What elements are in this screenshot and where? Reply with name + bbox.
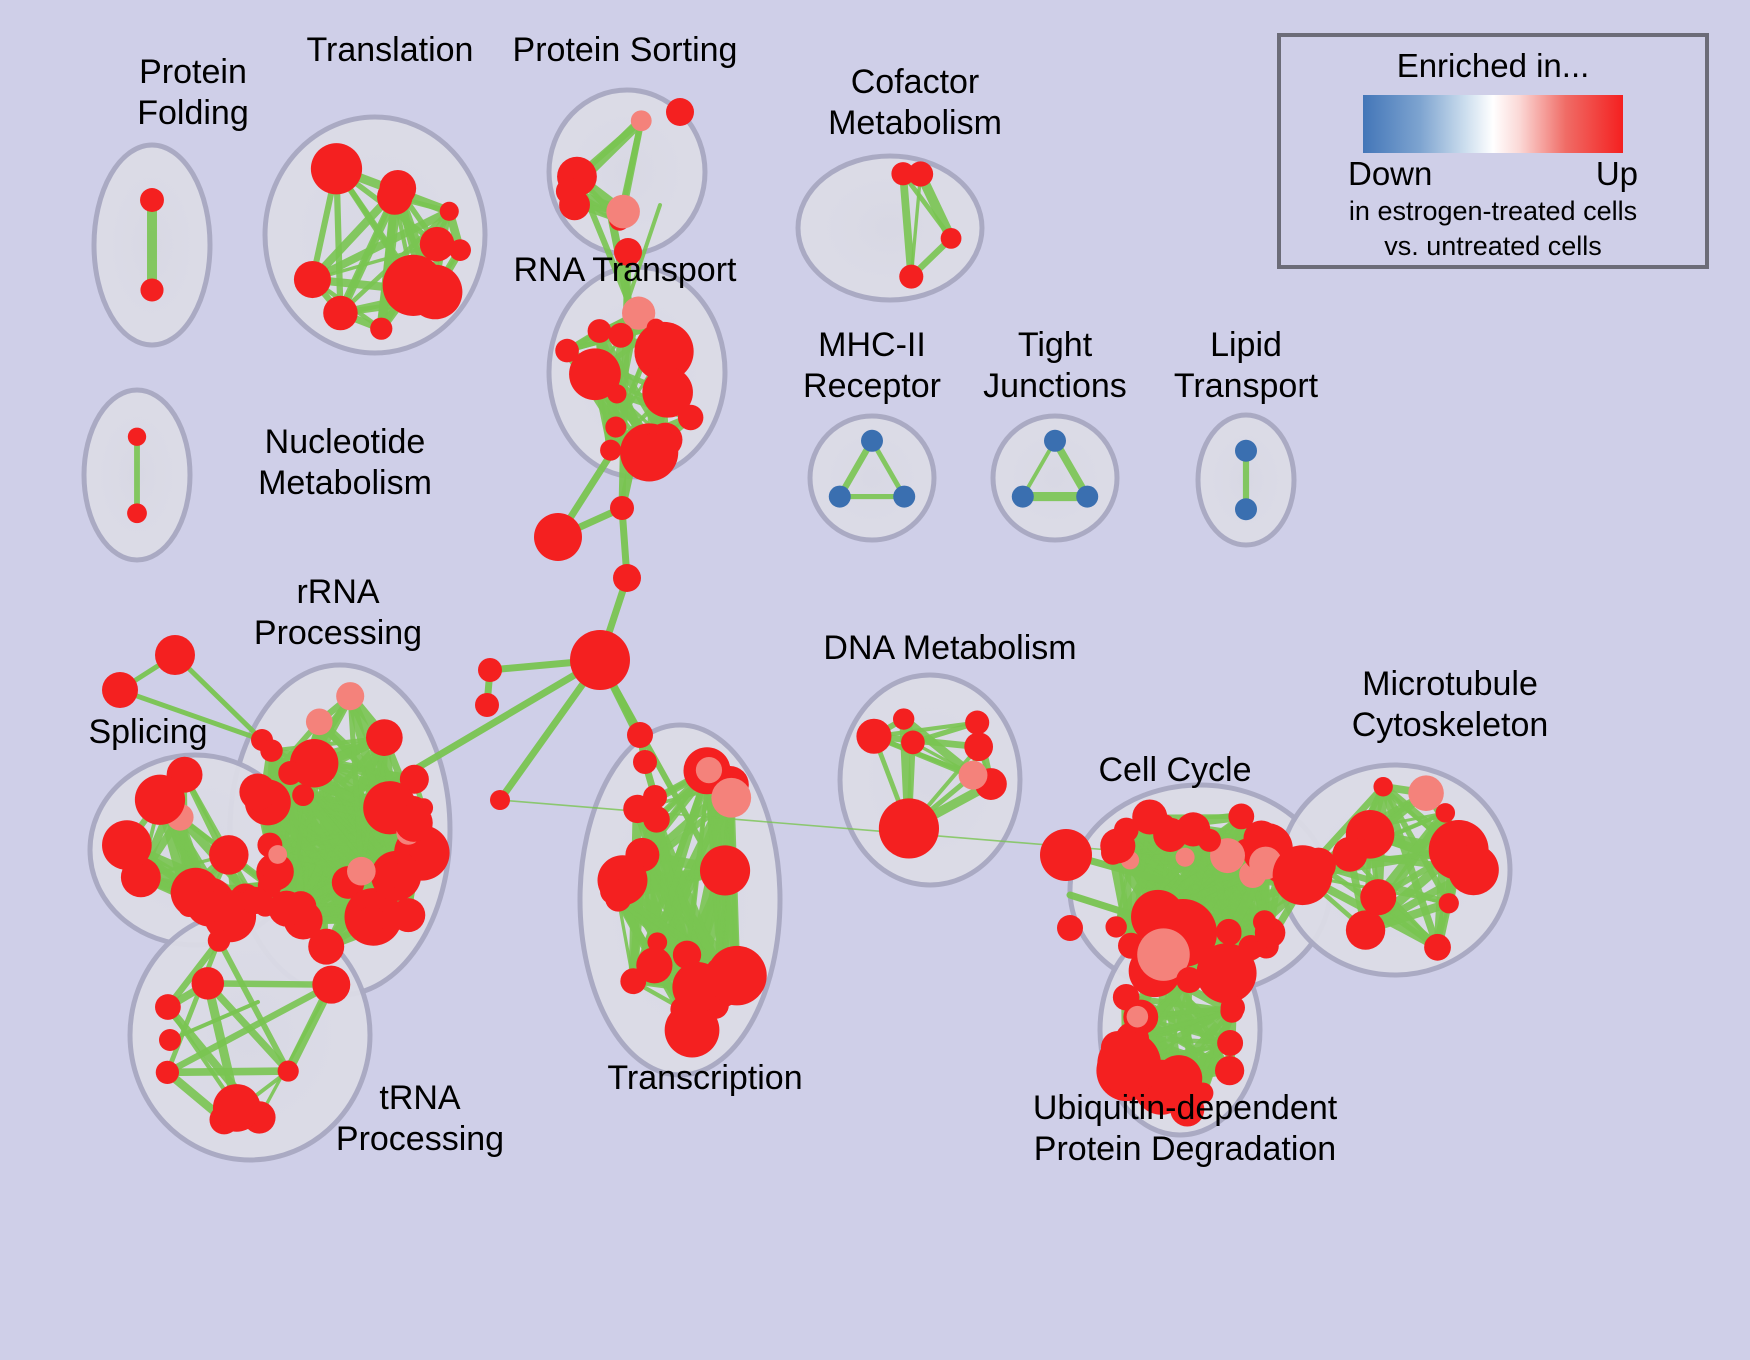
node — [613, 564, 641, 592]
node — [1176, 967, 1202, 993]
node — [636, 947, 672, 983]
node — [387, 863, 413, 889]
node — [614, 238, 642, 266]
node — [395, 804, 433, 842]
node — [700, 845, 750, 895]
node — [1176, 848, 1195, 867]
node — [964, 732, 993, 761]
legend-color-gradient-bar — [1363, 95, 1623, 153]
node — [707, 946, 767, 1006]
node — [140, 188, 164, 212]
node — [600, 440, 621, 461]
node — [1424, 934, 1451, 961]
legend-panel: Enriched in... Down Up in estrogen-treat… — [1277, 33, 1709, 269]
node — [901, 731, 925, 755]
node — [1105, 916, 1126, 937]
node — [1301, 848, 1336, 883]
node — [610, 496, 634, 520]
node — [666, 98, 694, 126]
node — [391, 898, 425, 932]
legend-down-label: Down — [1348, 155, 1432, 193]
node — [159, 1029, 181, 1051]
node — [631, 110, 652, 131]
node — [1192, 1082, 1213, 1103]
node — [1228, 803, 1254, 829]
node — [639, 433, 668, 462]
node — [606, 195, 640, 229]
node — [336, 682, 364, 710]
node — [1097, 1032, 1161, 1096]
node — [370, 318, 392, 340]
node — [1218, 922, 1241, 945]
node — [588, 319, 612, 343]
node — [1253, 910, 1276, 933]
node — [347, 857, 376, 886]
node — [556, 178, 583, 205]
node — [1215, 1056, 1244, 1085]
node — [1360, 879, 1396, 915]
node — [222, 890, 245, 913]
node — [647, 932, 667, 952]
node — [893, 708, 914, 729]
node — [600, 878, 626, 904]
node — [893, 486, 915, 508]
node — [294, 261, 331, 298]
node — [829, 486, 851, 508]
node — [861, 430, 883, 452]
node — [268, 845, 287, 864]
cluster-hull-cofactor-metabolism — [798, 156, 982, 300]
node — [311, 143, 362, 194]
node — [260, 739, 282, 761]
node — [312, 966, 350, 1004]
node — [127, 503, 147, 523]
node — [278, 761, 302, 785]
node — [1448, 844, 1499, 895]
node — [1076, 486, 1098, 508]
node — [1221, 995, 1245, 1019]
node — [1044, 430, 1066, 452]
node — [306, 708, 333, 735]
node — [135, 775, 185, 825]
node — [1235, 498, 1257, 520]
node — [102, 672, 138, 708]
node — [323, 296, 358, 331]
node — [420, 227, 455, 262]
node — [856, 719, 891, 754]
node — [1408, 775, 1444, 811]
node — [1436, 803, 1455, 822]
node — [1373, 777, 1392, 796]
node — [1057, 915, 1083, 941]
node — [1198, 829, 1221, 852]
node — [965, 711, 989, 735]
node — [377, 179, 412, 214]
node — [278, 1060, 299, 1081]
node — [102, 820, 152, 870]
node — [1196, 943, 1256, 1003]
node — [1012, 486, 1034, 508]
node — [1127, 1006, 1149, 1028]
node — [1101, 841, 1125, 865]
node — [189, 890, 223, 924]
node — [570, 630, 630, 690]
edge — [167, 1071, 288, 1072]
node — [155, 994, 181, 1020]
node — [1235, 440, 1257, 462]
legend-subtitle-line-1: in estrogen-treated cells — [1281, 195, 1705, 228]
node — [213, 1084, 261, 1132]
node — [1217, 1030, 1243, 1056]
node — [140, 278, 163, 301]
node — [891, 162, 914, 185]
node — [155, 635, 195, 675]
node — [366, 719, 403, 756]
node — [292, 784, 314, 806]
node — [239, 774, 276, 811]
network-diagram: Protein Folding Translation Protein Sort… — [0, 0, 1750, 1360]
node — [642, 367, 693, 418]
node — [209, 835, 248, 874]
node — [941, 228, 962, 249]
node — [607, 384, 626, 403]
node — [643, 806, 670, 833]
node — [490, 790, 510, 810]
node — [696, 757, 722, 783]
node — [192, 967, 225, 1000]
node — [959, 761, 988, 790]
node — [608, 323, 633, 348]
node — [899, 265, 923, 289]
node — [1332, 837, 1367, 872]
node — [627, 722, 653, 748]
node — [383, 255, 444, 316]
node — [879, 798, 939, 858]
node — [128, 428, 146, 446]
node — [208, 929, 230, 951]
node — [358, 906, 386, 934]
node — [1153, 818, 1187, 852]
node — [605, 417, 626, 438]
node — [156, 1061, 179, 1084]
node — [1040, 829, 1092, 881]
legend-title: Enriched in... — [1281, 47, 1705, 85]
node — [475, 693, 499, 717]
legend-up-label: Up — [1596, 155, 1638, 193]
node — [478, 658, 502, 682]
edge — [120, 690, 262, 740]
node — [1439, 893, 1459, 913]
node — [711, 778, 751, 818]
node — [534, 513, 582, 561]
node — [1346, 910, 1385, 949]
legend-subtitle-line-2: vs. untreated cells — [1281, 230, 1705, 263]
node — [440, 202, 459, 221]
node — [633, 750, 657, 774]
